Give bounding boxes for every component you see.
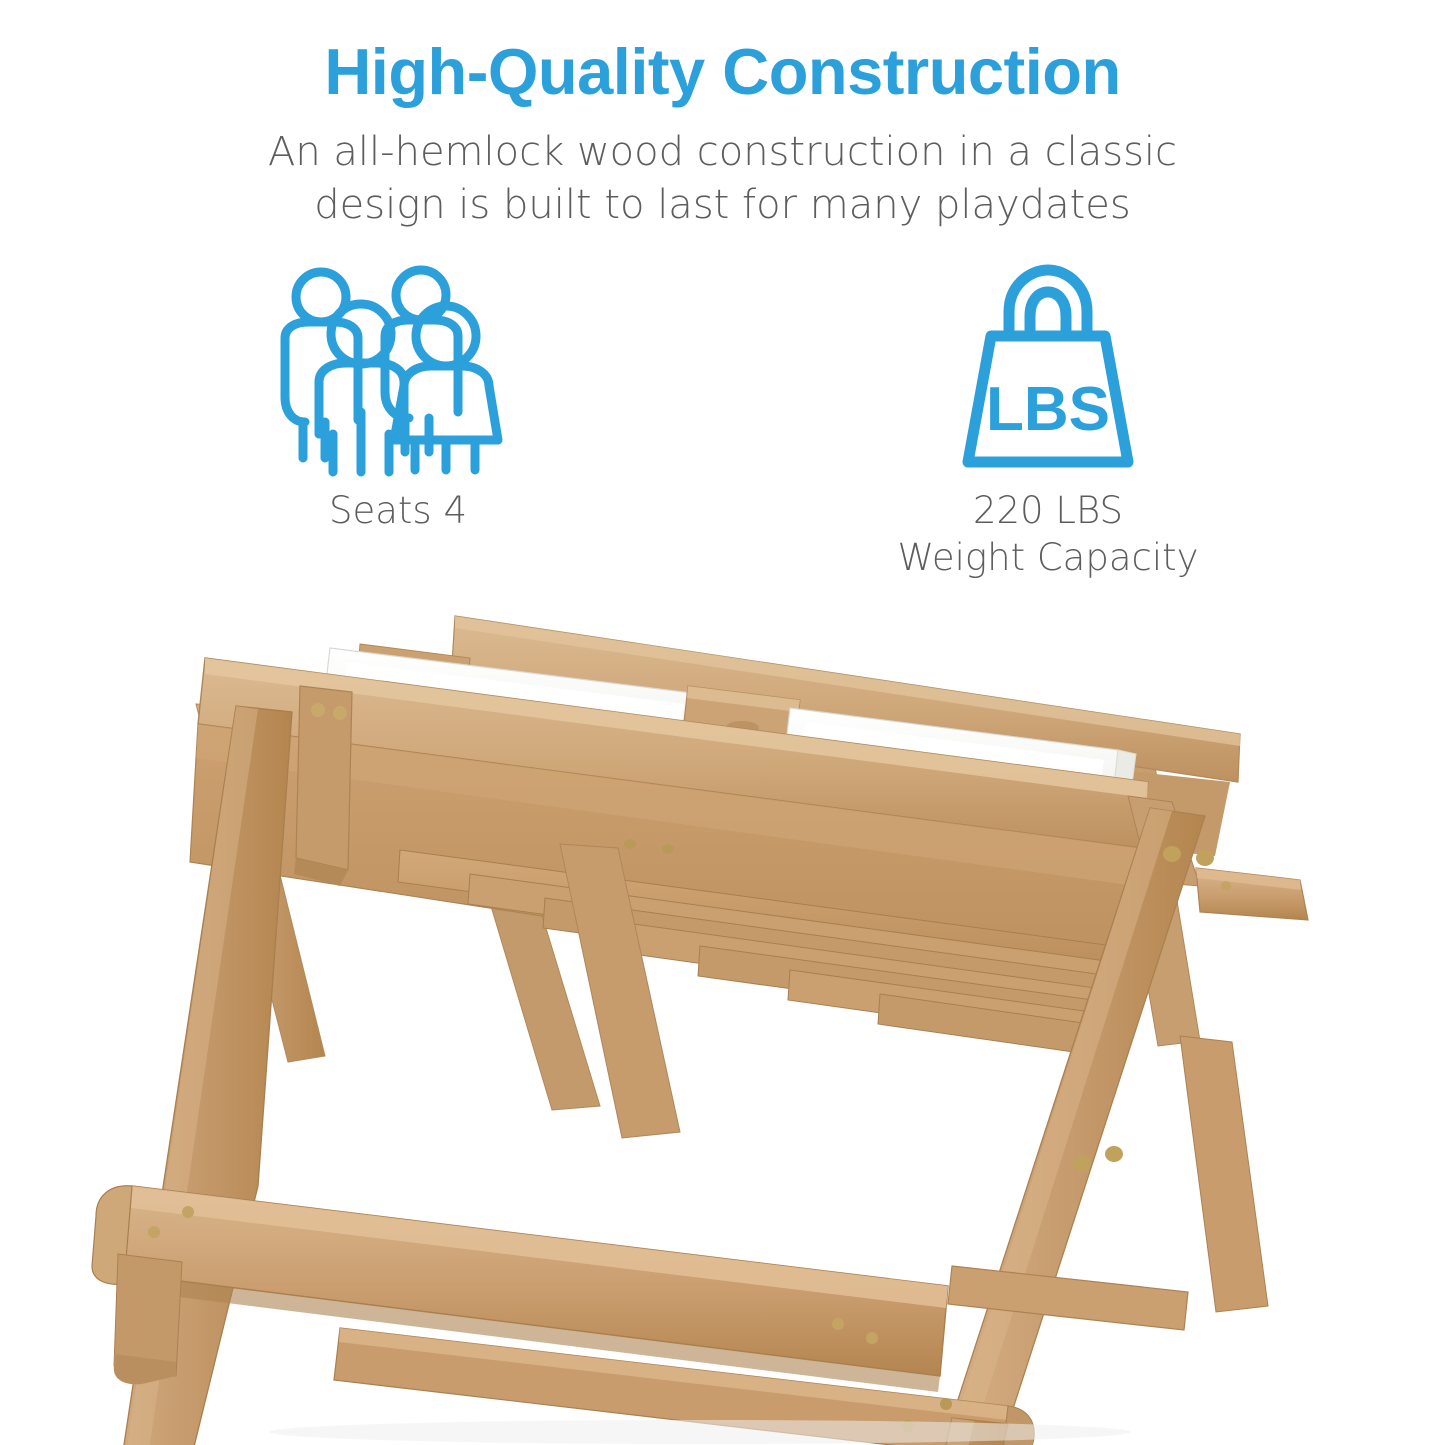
infographic-page: High-Quality Construction An all-hemlock… bbox=[0, 0, 1445, 1445]
weight-bag-icon: LBS bbox=[878, 262, 1218, 487]
feature-seats-caption-line-1: Seats 4 bbox=[228, 487, 568, 534]
feature-weight-caption-line-1: 220 LBS bbox=[878, 487, 1218, 534]
weight-bag-icon-label: LBS bbox=[986, 375, 1110, 444]
feature-seats: Seats 4 bbox=[228, 262, 568, 534]
feature-weight-capacity: LBS 220 LBS Weight Capacity bbox=[878, 262, 1218, 582]
page-title: High-Quality Construction bbox=[0, 38, 1445, 106]
family-of-four-icon bbox=[228, 262, 568, 487]
feature-weight-caption: 220 LBS Weight Capacity bbox=[878, 487, 1218, 582]
page-subtitle: An all-hemlock wood construction in a cl… bbox=[0, 126, 1445, 232]
product-image bbox=[0, 586, 1445, 1445]
feature-seats-caption: Seats 4 bbox=[228, 487, 568, 534]
subtitle-line-2: design is built to last for many playdat… bbox=[0, 179, 1445, 232]
feature-weight-caption-line-2: Weight Capacity bbox=[878, 534, 1218, 581]
subtitle-line-1: An all-hemlock wood construction in a cl… bbox=[0, 126, 1445, 179]
